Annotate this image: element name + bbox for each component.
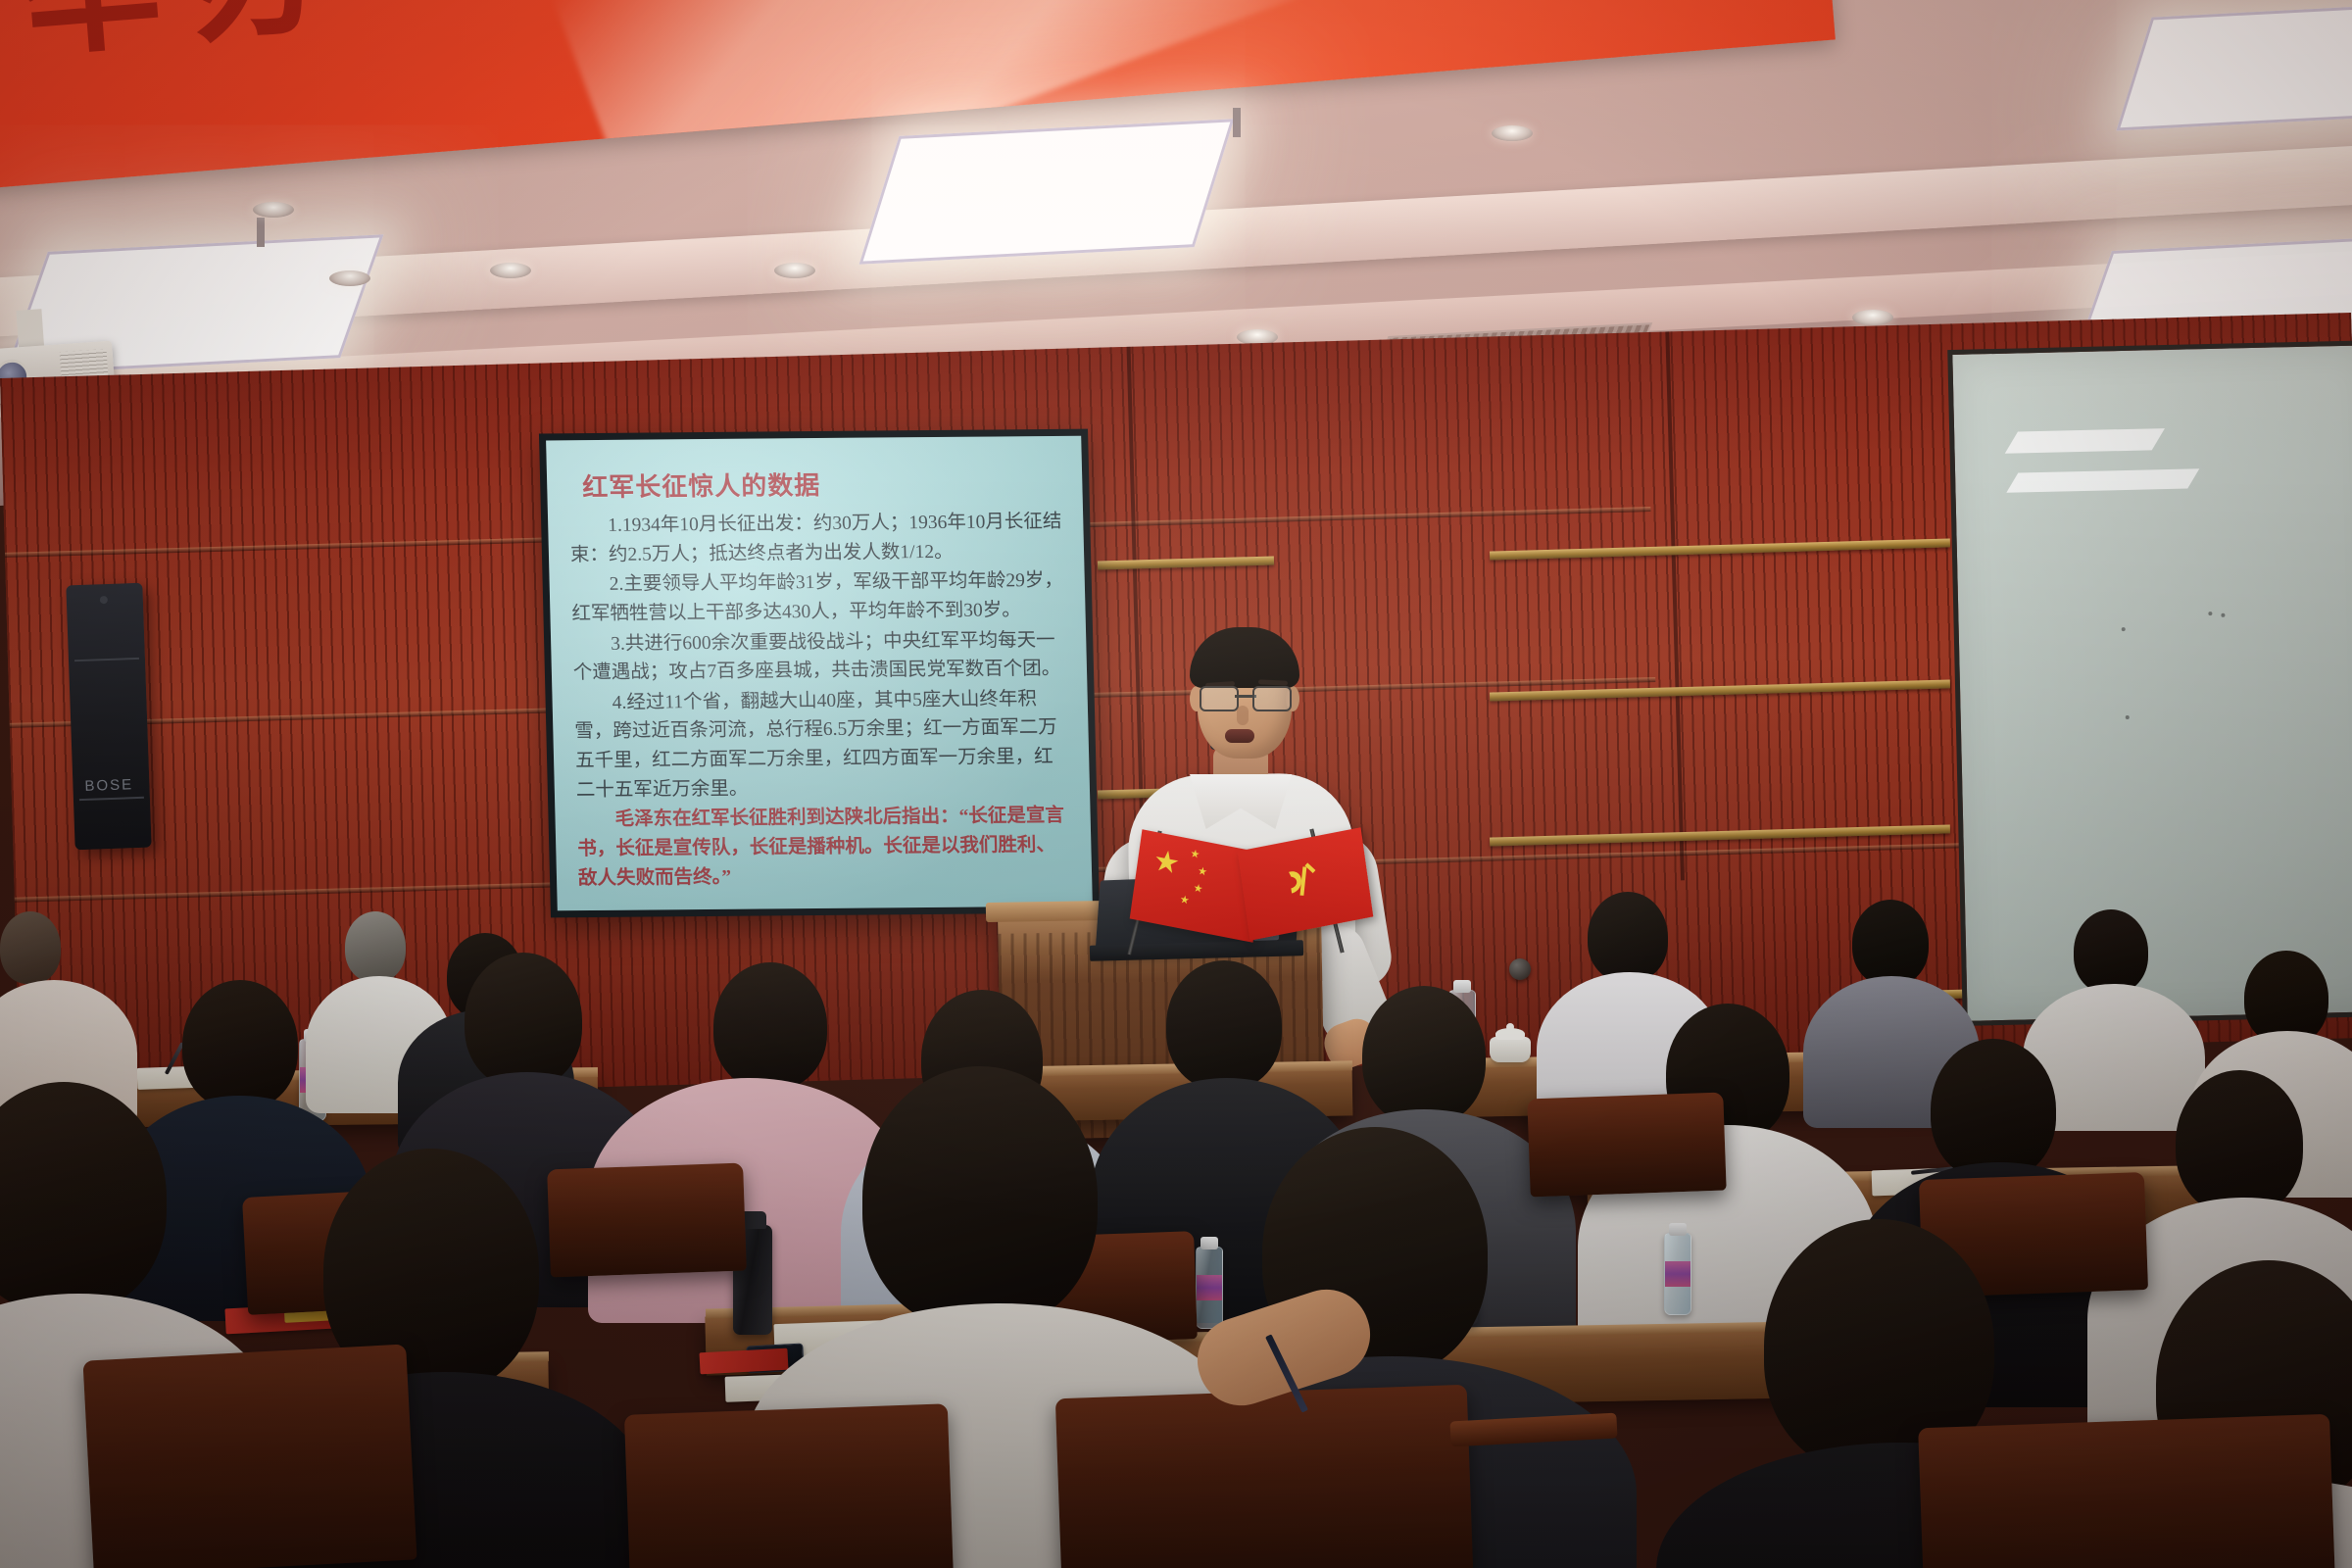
lecture-hall-photo: 京举办 BOSE <box>0 0 2352 1568</box>
speaker-indicator-icon <box>100 596 108 604</box>
whiteboard <box>1947 340 2352 1026</box>
chair[interactable] <box>1527 1093 1726 1198</box>
red-booklet[interactable] <box>699 1348 788 1375</box>
ceiling-panel-light <box>859 119 1235 264</box>
downlight-icon <box>490 263 531 278</box>
flag-star-icon: ★ <box>1193 883 1203 896</box>
light-stem <box>257 218 265 247</box>
whiteboard-glare <box>2005 428 2165 454</box>
projection-screen-frame: 红军长征惊人的数据 1.1934年10月长征出发：约30万人；1936年10月长… <box>539 429 1100 918</box>
downlight-icon <box>774 263 815 278</box>
chair[interactable] <box>624 1403 954 1568</box>
downlight-icon <box>1852 310 1893 325</box>
downlight-icon <box>1492 125 1533 141</box>
speaker-brand-label: BOSE <box>84 776 133 795</box>
flag-star-icon: ★ <box>1197 866 1207 879</box>
chair[interactable] <box>82 1345 416 1568</box>
downlight-icon <box>253 202 294 218</box>
downlight-icon <box>329 270 370 286</box>
flag-star-icon: ★ <box>1179 895 1190 907</box>
tea-cup[interactable] <box>1490 1037 1531 1062</box>
flag-star-icon: ★ <box>1151 846 1182 880</box>
whiteboard-glare <box>2006 468 2199 492</box>
flag-star-icon: ★ <box>1190 849 1200 861</box>
hammer-and-sickle-icon <box>1279 857 1329 907</box>
banner-text: 京举办 <box>0 0 370 100</box>
wall-speaker: BOSE <box>66 583 151 851</box>
ceiling-panel-light <box>2116 3 2352 131</box>
water-bottle[interactable] <box>1664 1233 1691 1315</box>
chair[interactable] <box>1918 1414 2335 1568</box>
presenter-mouth <box>1225 729 1254 743</box>
water-bottle[interactable] <box>1196 1247 1223 1329</box>
screen-vignette <box>546 436 1093 911</box>
wall-knob <box>1509 958 1531 980</box>
chair[interactable] <box>1055 1385 1473 1568</box>
presenter-nose <box>1237 706 1249 725</box>
chair[interactable] <box>547 1163 747 1278</box>
light-stem <box>1233 108 1241 137</box>
projection-screen: 红军长征惊人的数据 1.1934年10月长征出发：约30万人；1936年10月长… <box>546 436 1093 911</box>
